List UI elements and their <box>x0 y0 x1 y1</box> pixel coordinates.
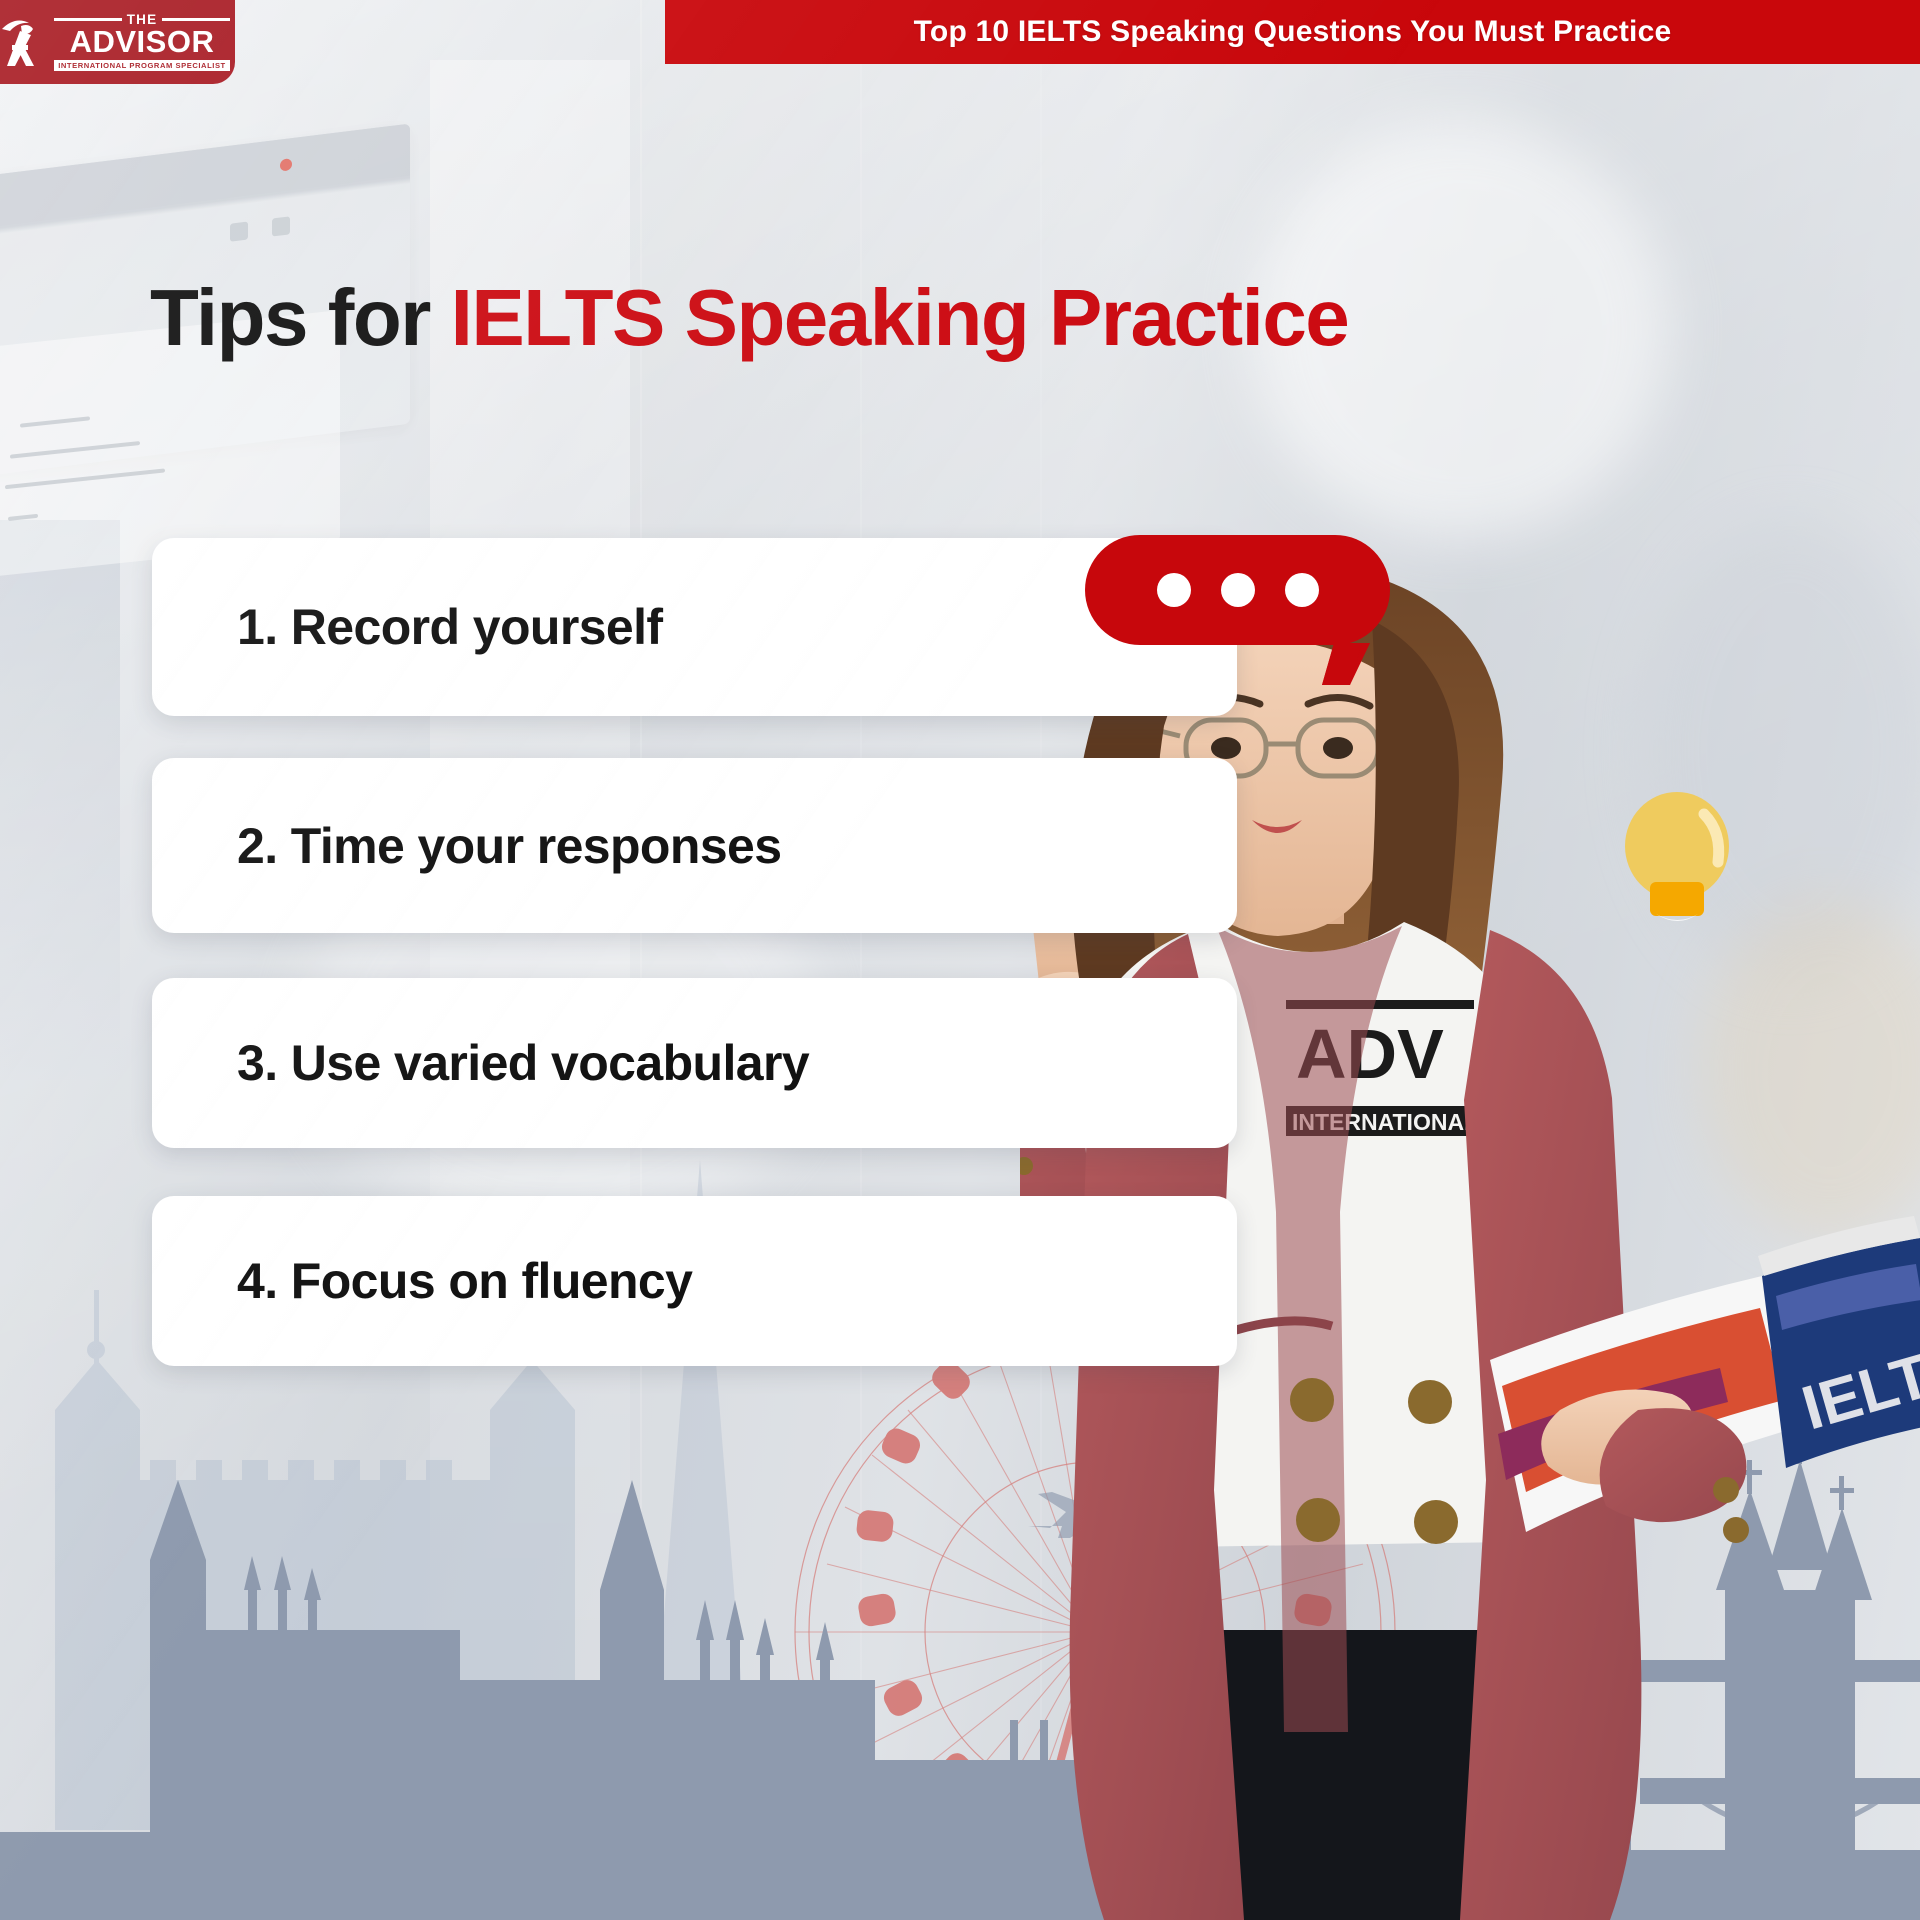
logo-name: ADVISOR <box>70 26 215 57</box>
tip-card-3[interactable]: 3. Use varied vocabulary <box>152 978 1237 1148</box>
brand-logo[interactable]: THE ADVISOR INTERNATIONAL PROGRAM SPECIA… <box>0 0 235 84</box>
bg-monitor-bar <box>0 124 410 229</box>
tip-card-1-label: 1. Record yourself <box>152 598 662 656</box>
bg-monitor-icon-2 <box>272 216 290 236</box>
bg-panel-left <box>0 520 120 1080</box>
tip-card-1[interactable]: 1. Record yourself <box>152 538 1237 716</box>
page-title-highlight: IELTS Speaking Practice <box>451 273 1349 362</box>
top-banner: Top 10 IELTS Speaking Questions You Must… <box>665 0 1920 64</box>
speech-bubble-dot-3 <box>1285 573 1319 607</box>
top-banner-text: Top 10 IELTS Speaking Questions You Must… <box>914 15 1672 49</box>
tip-card-3-label: 3. Use varied vocabulary <box>152 1034 809 1092</box>
speech-bubble-dot-2 <box>1221 573 1255 607</box>
poster-canvas: ADV INTERNATIONAL IELTS <box>0 0 1920 1920</box>
tip-card-4[interactable]: 4. Focus on fluency <box>152 1196 1237 1366</box>
tip-card-4-label: 4. Focus on fluency <box>152 1252 692 1310</box>
bg-monitor-icon-1 <box>230 221 248 241</box>
tip-card-2-label: 2. Time your responses <box>152 817 781 875</box>
speech-bubble-dot-1 <box>1157 573 1191 607</box>
page-title: Tips for IELTS Speaking Practice <box>150 272 1348 364</box>
page-title-lead: Tips for <box>150 273 451 362</box>
advisor-mark-icon <box>0 17 45 67</box>
logo-tagline: INTERNATIONAL PROGRAM SPECIALIST <box>54 60 230 71</box>
lightbulb-icon <box>1612 790 1742 930</box>
speech-bubble-icon <box>1085 535 1390 645</box>
tip-card-2[interactable]: 2. Time your responses <box>152 758 1237 933</box>
